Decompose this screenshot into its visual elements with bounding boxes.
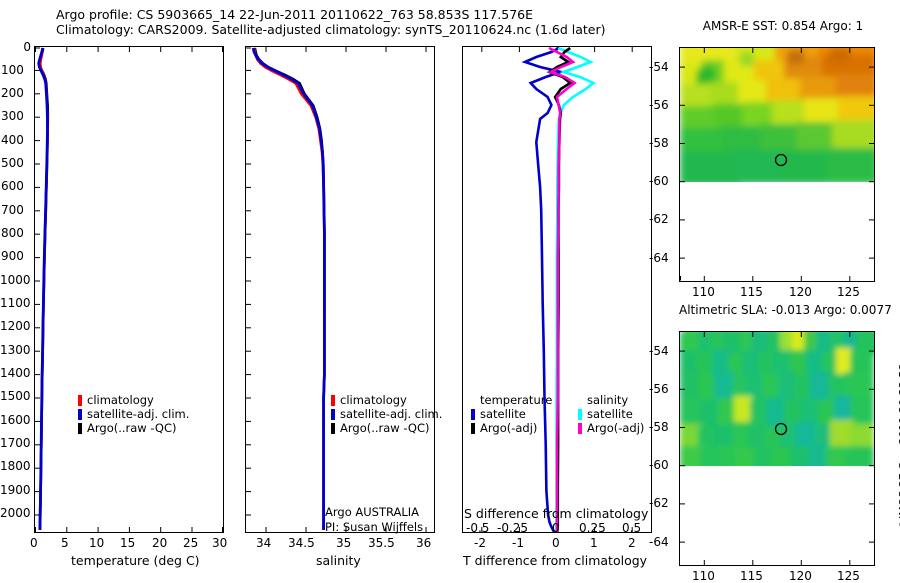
difference-legend-temperature: temperature satellite Argo(-adj) [471, 393, 552, 435]
legend-swatch-salinity-argo [578, 423, 582, 434]
legend-item-satellite-adj: satellite-adj. clim. [78, 407, 189, 421]
figure-title-line2: Climatology: CARS2009. Satellite-adjuste… [56, 22, 606, 37]
legend-label-satellite-adj: satellite-adj. clim. [340, 407, 442, 421]
legend-swatch-climatology [78, 395, 82, 406]
legend-item-salinity-satellite: satellite [578, 407, 644, 421]
legend-label-climatology: climatology [340, 393, 407, 407]
legend-swatch-argo-raw [331, 423, 335, 434]
legend-label-salinity-header: salinity [587, 393, 628, 407]
legend-item-climatology: climatology [331, 393, 442, 407]
sla-map-frame [679, 331, 875, 566]
legend-item-temperature-argo: Argo(-adj) [471, 421, 552, 435]
legend-swatch-temperature-satellite [471, 409, 475, 420]
legend-swatch-satellite-adj [78, 409, 82, 420]
legend-item-argo-raw: Argo(..raw -QC) [78, 421, 189, 435]
legend-label-temperature-argo: Argo(-adj) [480, 421, 537, 435]
legend-swatch-argo-raw [78, 423, 82, 434]
difference-curves [463, 47, 651, 532]
temperature-curves [35, 47, 223, 532]
sst-heatmap [680, 48, 874, 281]
sst-map-frame [679, 47, 875, 282]
legend-item-satellite-adj: satellite-adj. clim. [331, 407, 442, 421]
salinity-legend: climatology satellite-adj. clim. Argo(..… [331, 393, 442, 435]
difference-s-axis-label: S difference from climatology [464, 506, 648, 521]
legend-label-argo-raw: Argo(..raw -QC) [87, 421, 177, 435]
figure-title: Argo profile: CS 5903665_14 22-Jun-2011 … [56, 7, 606, 37]
difference-plot-frame [462, 46, 652, 533]
argo-credit-line1: Argo AUSTRALIA [325, 505, 423, 520]
salinity-xaxis-label: salinity [316, 553, 361, 568]
argo-credit: Argo AUSTRALIA PI: Susan Wijffels [325, 505, 423, 535]
legend-spacer [578, 395, 582, 406]
sst-map-title: AMSR-E SST: 0.854 Argo: 1 [688, 19, 878, 33]
legend-swatch-climatology [331, 395, 335, 406]
temperature-plot-frame [34, 46, 224, 533]
legend-swatch-salinity-satellite [578, 409, 582, 420]
figure-title-line1: Argo profile: CS 5903665_14 22-Jun-2011 … [56, 7, 606, 22]
legend-spacer [471, 395, 475, 406]
legend-item-temperature-satellite: satellite [471, 407, 552, 421]
legend-label-salinity-satellite: satellite [587, 407, 633, 421]
legend-label-salinity-argo: Argo(-adj) [587, 421, 644, 435]
legend-swatch-satellite-adj [331, 409, 335, 420]
legend-swatch-temperature-argo [471, 423, 475, 434]
legend-item-climatology: climatology [78, 393, 189, 407]
sla-heatmap [680, 332, 874, 565]
temperature-legend: climatology satellite-adj. clim. Argo(..… [78, 393, 189, 435]
sla-map-title: Altimetric SLA: -0.013 Argo: 0.0077 [679, 303, 875, 317]
salinity-curves [246, 47, 434, 532]
legend-header-temperature: temperature [471, 393, 552, 407]
temperature-xaxis-label: temperature (deg C) [71, 553, 200, 568]
argo-credit-line2: PI: Susan Wijffels [325, 520, 423, 535]
legend-item-argo-raw: Argo(..raw -QC) [331, 421, 442, 435]
difference-t-axis-label: T difference from climatology [463, 553, 647, 568]
salinity-plot-frame [245, 46, 435, 533]
legend-label-temperature-satellite: satellite [480, 407, 526, 421]
legend-item-salinity-argo: Argo(-adj) [578, 421, 644, 435]
legend-label-climatology: climatology [87, 393, 154, 407]
legend-label-argo-raw: Argo(..raw -QC) [340, 421, 430, 435]
legend-label-temperature-header: temperature [480, 393, 552, 407]
legend-label-satellite-adj: satellite-adj. clim. [87, 407, 189, 421]
legend-header-salinity: salinity [578, 393, 644, 407]
difference-legend-salinity: salinity satellite Argo(-adj) [578, 393, 644, 435]
